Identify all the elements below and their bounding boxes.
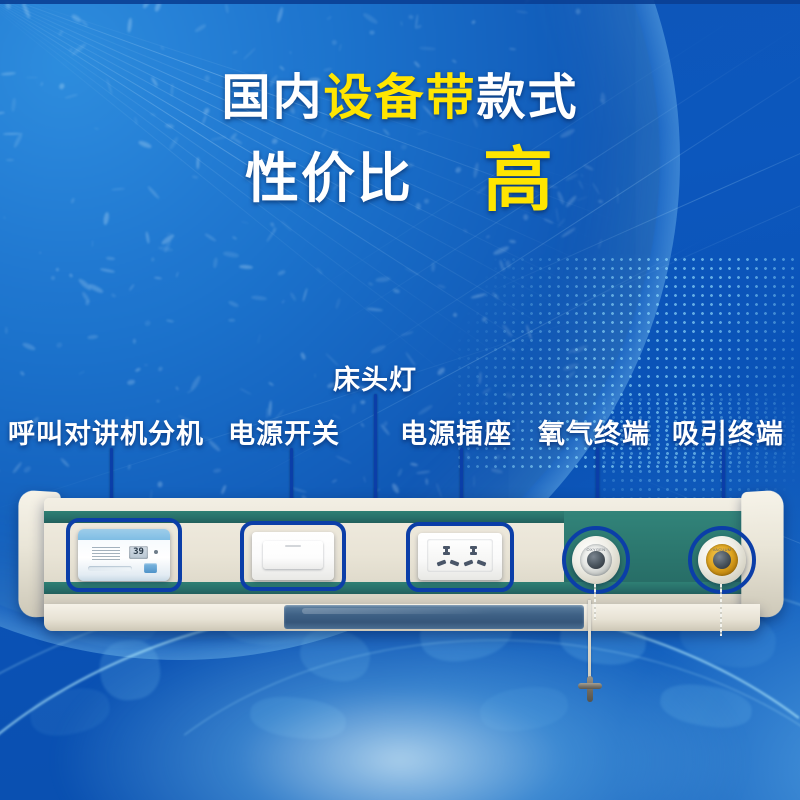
socket-slot-angled-4 <box>477 560 487 567</box>
cord-handle-vertical <box>587 676 593 702</box>
socket-slot-angled-3 <box>464 560 474 567</box>
intercom-name-strip <box>88 566 132 571</box>
switch-rocker[interactable] <box>263 541 323 569</box>
intercom-top-bezel <box>78 529 170 540</box>
callout-label-bed-lamp: 床头灯 <box>333 358 417 397</box>
intercom-display: 39 <box>129 546 148 559</box>
socket-slot-live-left <box>445 546 448 555</box>
callout-label-power-switch: 电源开关 <box>228 412 340 451</box>
headline-line-1: 国内设备带款式 <box>0 74 800 123</box>
top-edge-bar <box>0 0 800 4</box>
headline-line-2: 性价比高 <box>0 145 800 215</box>
socket-slot-angled-1 <box>437 560 447 567</box>
power-socket-outlet[interactable] <box>418 533 502 580</box>
headline-text-style: 款式 <box>477 71 579 125</box>
callout-label-oxygen: 氧气终端 <box>538 412 650 451</box>
headline-text-equipment-belt: 设备带 <box>323 71 476 125</box>
headline-text-high: 高 <box>483 141 555 219</box>
suction-port-core <box>713 551 731 569</box>
callout-label-intercom: 呼叫对讲机分机 <box>8 412 204 451</box>
callout-label-suction: 吸引终端 <box>672 412 784 451</box>
speaker-grille-icon <box>92 547 120 560</box>
pull-cord-handle[interactable] <box>578 676 602 702</box>
headline-text-value-ratio: 性价比 <box>245 149 413 209</box>
oxygen-terminal-outlet[interactable]: OXYGEN <box>572 536 620 584</box>
oxygen-cord <box>594 584 596 620</box>
promo-image-root: 国内设备带款式 性价比高 呼叫对讲机分机 电源开关 床头灯 电源插座 氧气终端 … <box>0 0 800 800</box>
headline-block: 国内设备带款式 性价比高 <box>0 74 800 215</box>
pull-cord[interactable] <box>588 600 591 685</box>
suction-cord <box>720 584 722 636</box>
suction-terminal-outlet[interactable]: VACUUM <box>698 536 746 584</box>
cord-handle-horizontal <box>578 683 602 689</box>
socket-face <box>427 539 493 572</box>
oxygen-port-core <box>587 551 605 569</box>
callout-label-power-socket: 电源插座 <box>400 412 512 451</box>
panel-acrylic-slider <box>284 605 584 629</box>
panel-end-cap-right <box>741 490 783 619</box>
intercom-call-button[interactable] <box>144 563 157 573</box>
headline-text-domestic: 国内 <box>221 71 323 125</box>
panel-stripe-bottom <box>44 582 760 594</box>
bed-lamp-power-switch[interactable] <box>252 532 334 580</box>
nurse-call-intercom-unit[interactable]: 39 <box>78 529 170 581</box>
socket-slot-live-right <box>472 546 475 555</box>
intercom-led-icon <box>154 550 158 554</box>
socket-slot-angled-2 <box>450 560 460 567</box>
